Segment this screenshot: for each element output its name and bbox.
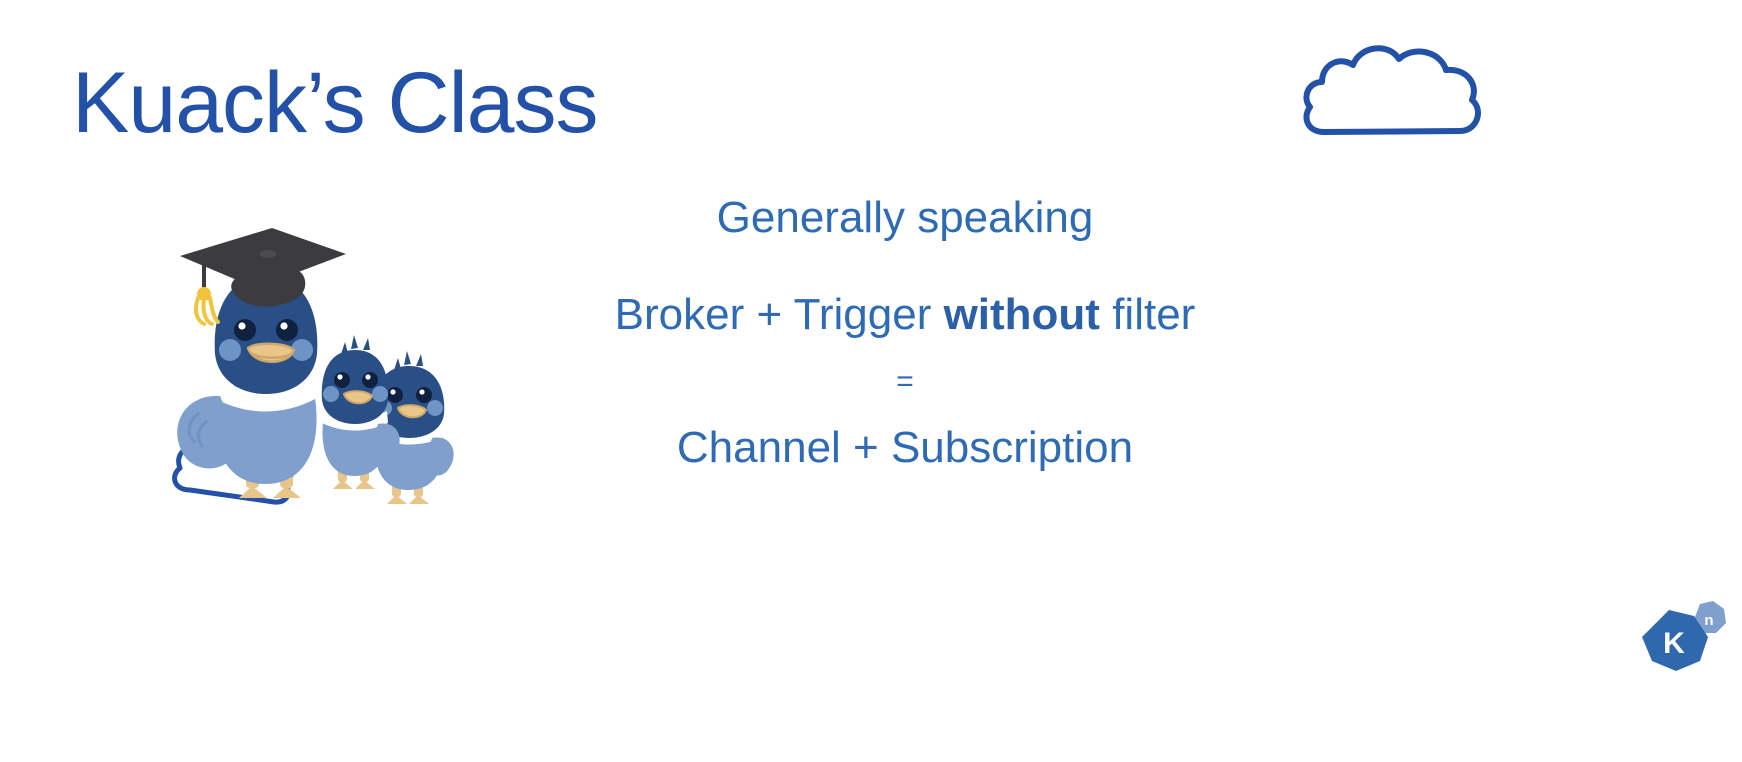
- knative-logo: n K: [1638, 594, 1730, 682]
- page-title: Kuack’s Class: [72, 58, 598, 148]
- knative-logo-n-letter: n: [1704, 612, 1713, 629]
- body-line-equals: =: [520, 365, 1290, 398]
- body-line2-suffix: filter: [1100, 290, 1195, 339]
- cloud-outline-icon: [1300, 28, 1490, 143]
- body-text-block: Generally speaking Broker + Trigger with…: [520, 192, 1290, 474]
- teacher-duck: [177, 228, 346, 498]
- slide-canvas: Kuack’s Class: [0, 0, 1742, 762]
- body-line-generally-speaking: Generally speaking: [520, 192, 1290, 244]
- knative-duck-teacher-with-ducklings-illustration: [160, 218, 510, 518]
- body-line2-emphasis: without: [944, 290, 1100, 339]
- knative-logo-k-letter: K: [1663, 627, 1685, 660]
- body-line-channel-subscription: Channel + Subscription: [520, 422, 1290, 474]
- body-line2-prefix: Broker + Trigger: [615, 290, 944, 339]
- body-line-broker-trigger: Broker + Trigger without filter: [520, 289, 1290, 341]
